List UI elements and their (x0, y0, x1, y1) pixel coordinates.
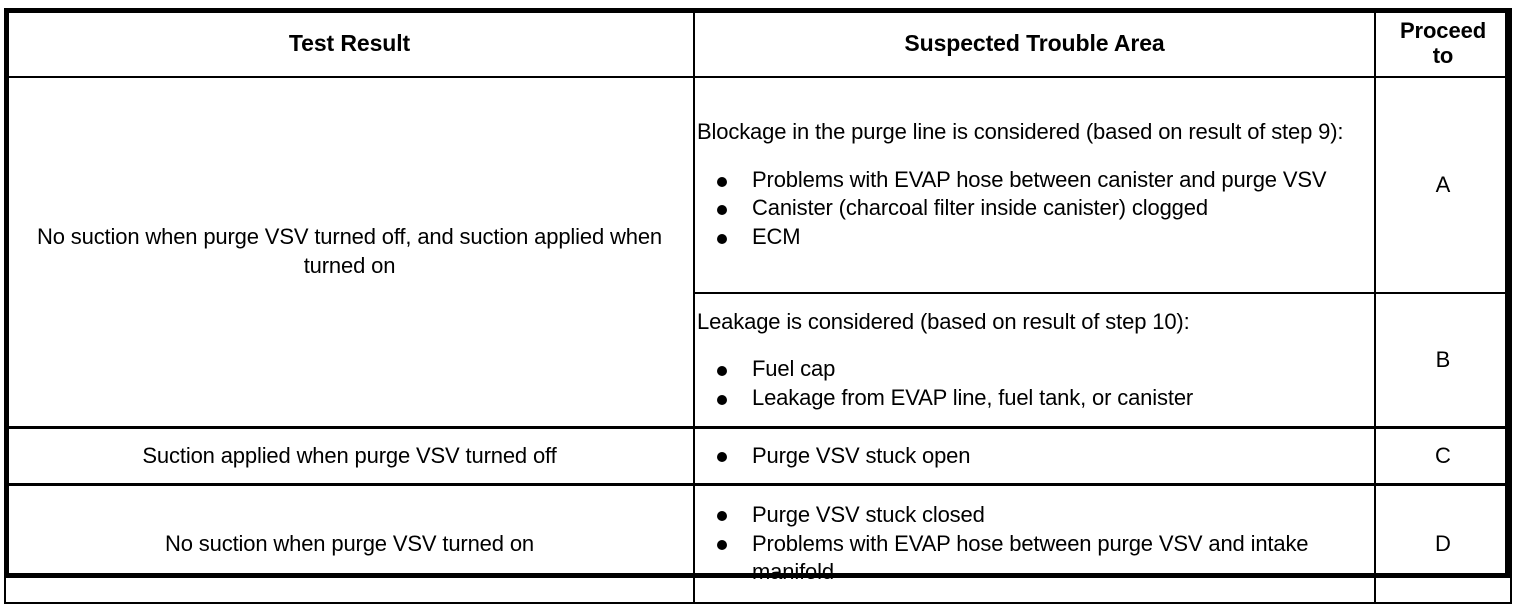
bullet-dot-icon (717, 205, 727, 215)
trouble-area-bullet-list-b: Fuel cap Leakage from EVAP line, fuel ta… (695, 355, 1374, 411)
list-item: Purge VSV stuck open (695, 442, 1374, 470)
list-item: Canister (charcoal filter inside caniste… (695, 194, 1374, 222)
cell-test-result-d: No suction when purge VSV turned on (5, 485, 694, 604)
proceed-to-line-1: Proceed (1376, 18, 1510, 43)
list-item: Fuel cap (695, 355, 1374, 383)
cell-trouble-area-b: Leakage is considered (based on result o… (694, 293, 1375, 428)
proceed-to-line-2: to (1376, 43, 1510, 68)
column-header-proceed-to: Proceed to (1375, 9, 1511, 77)
cell-proceed-to-a: A (1375, 77, 1511, 293)
bullet-dot-icon (717, 452, 727, 462)
list-item-label: Canister (charcoal filter inside caniste… (752, 195, 1208, 220)
cell-trouble-area-d: Purge VSV stuck closed Problems with EVA… (694, 485, 1375, 604)
cell-test-result-a: No suction when purge VSV turned off, an… (5, 77, 694, 428)
cell-proceed-to-c: C (1375, 428, 1511, 485)
trouble-area-intro-a: Blockage in the purge line is considered… (695, 118, 1374, 146)
diagnostic-table: Test Result Suspected Trouble Area Proce… (4, 8, 1512, 604)
page-root: Test Result Suspected Trouble Area Proce… (0, 0, 1520, 586)
column-header-suspected-trouble-area: Suspected Trouble Area (694, 9, 1375, 77)
table-body: No suction when purge VSV turned off, an… (5, 77, 1511, 603)
trouble-area-bullet-list-a: Problems with EVAP hose between canister… (695, 166, 1374, 251)
trouble-area-intro-b: Leakage is considered (based on result o… (695, 308, 1374, 336)
bullet-dot-icon (717, 540, 727, 550)
cell-trouble-area-c: Purge VSV stuck open (694, 428, 1375, 485)
bullet-dot-icon (717, 511, 727, 521)
cell-test-result-c: Suction applied when purge VSV turned of… (5, 428, 694, 485)
table-row: No suction when purge VSV turned on Purg… (5, 485, 1511, 604)
list-item-label: Leakage from EVAP line, fuel tank, or ca… (752, 385, 1193, 410)
bullet-dot-icon (717, 234, 727, 244)
list-item-label: Problems with EVAP hose between purge VS… (752, 531, 1308, 584)
list-item: Problems with EVAP hose between canister… (695, 166, 1374, 194)
list-item: Purge VSV stuck closed (695, 501, 1374, 529)
list-item-label: Problems with EVAP hose between canister… (752, 167, 1326, 192)
list-item-label: ECM (752, 224, 800, 249)
list-item-label: Fuel cap (752, 356, 835, 381)
list-item: Leakage from EVAP line, fuel tank, or ca… (695, 384, 1374, 412)
table-header: Test Result Suspected Trouble Area Proce… (5, 9, 1511, 77)
trouble-area-bullet-list-c: Purge VSV stuck open (695, 442, 1374, 470)
list-item: Problems with EVAP hose between purge VS… (695, 530, 1374, 585)
bullet-dot-icon (717, 177, 727, 187)
list-item: ECM (695, 223, 1374, 251)
column-header-test-result: Test Result (5, 9, 694, 77)
cell-trouble-area-a: Blockage in the purge line is considered… (694, 77, 1375, 293)
table-row: Suction applied when purge VSV turned of… (5, 428, 1511, 485)
table-row: No suction when purge VSV turned off, an… (5, 77, 1511, 293)
cell-proceed-to-d: D (1375, 485, 1511, 604)
bullet-dot-icon (717, 366, 727, 376)
cell-proceed-to-b: B (1375, 293, 1511, 428)
header-row: Test Result Suspected Trouble Area Proce… (5, 9, 1511, 77)
list-item-label: Purge VSV stuck closed (752, 502, 985, 527)
bullet-dot-icon (717, 395, 727, 405)
trouble-area-bullet-list-d: Purge VSV stuck closed Problems with EVA… (695, 501, 1374, 585)
list-item-label: Purge VSV stuck open (752, 443, 970, 468)
